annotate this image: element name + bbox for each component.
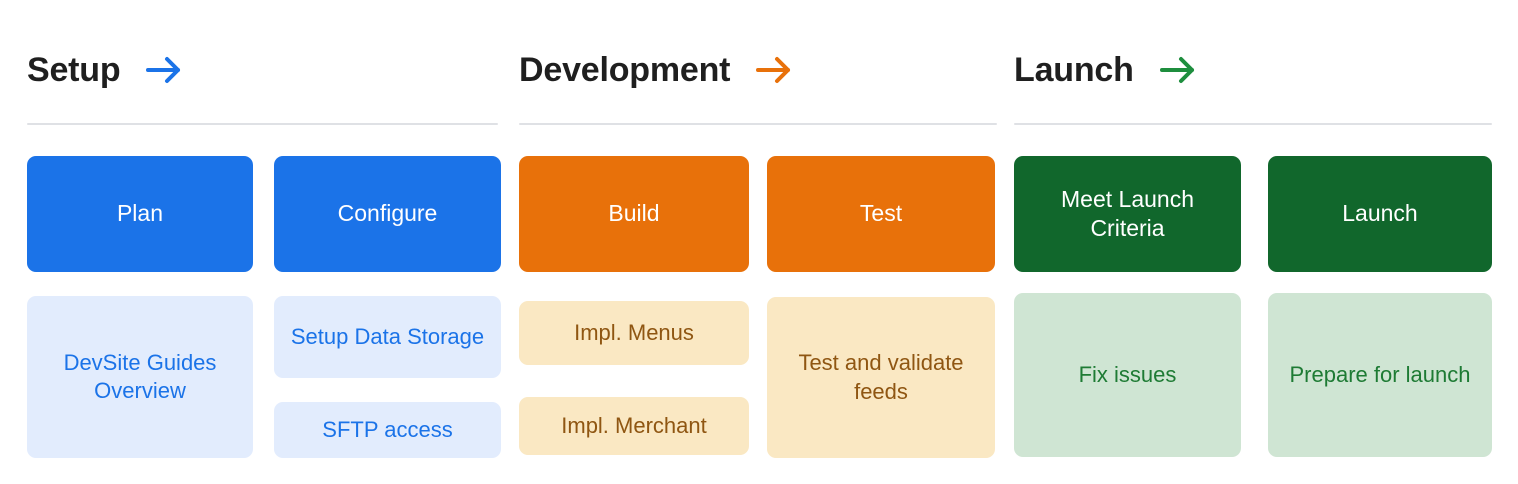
phase-column-development: Development Build Test Impl. Menus Impl.… bbox=[519, 0, 997, 484]
task-card-test-and-validate-feeds[interactable]: Test and validate feeds bbox=[767, 297, 995, 458]
arrow-right-icon bbox=[1160, 56, 1198, 84]
task-card-sftp-access[interactable]: SFTP access bbox=[274, 402, 501, 458]
task-card-devsite-guides-overview[interactable]: DevSite Guides Overview bbox=[27, 296, 253, 458]
phase-divider-setup bbox=[27, 123, 498, 125]
phase-title-setup: Setup bbox=[27, 50, 120, 90]
arrow-right-icon bbox=[146, 56, 184, 84]
step-card-plan[interactable]: Plan bbox=[27, 156, 253, 272]
phase-header-development: Development bbox=[519, 44, 794, 96]
phase-divider-launch bbox=[1014, 123, 1492, 125]
phase-header-setup: Setup bbox=[27, 44, 184, 96]
step-card-launch[interactable]: Launch bbox=[1268, 156, 1492, 272]
phase-header-launch: Launch bbox=[1014, 44, 1198, 96]
task-card-setup-data-storage[interactable]: Setup Data Storage bbox=[274, 296, 501, 378]
phase-title-launch: Launch bbox=[1014, 50, 1134, 90]
task-card-prepare-for-launch[interactable]: Prepare for launch bbox=[1268, 293, 1492, 457]
phase-column-launch: Launch Meet Launch Criteria Launch Fix i… bbox=[1014, 0, 1492, 484]
arrow-right-icon bbox=[756, 56, 794, 84]
step-card-meet-launch-criteria[interactable]: Meet Launch Criteria bbox=[1014, 156, 1241, 272]
task-card-impl-menus[interactable]: Impl. Menus bbox=[519, 301, 749, 365]
step-card-build[interactable]: Build bbox=[519, 156, 749, 272]
task-card-fix-issues[interactable]: Fix issues bbox=[1014, 293, 1241, 457]
step-card-test[interactable]: Test bbox=[767, 156, 995, 272]
task-card-impl-merchant[interactable]: Impl. Merchant bbox=[519, 397, 749, 455]
phase-title-development: Development bbox=[519, 50, 730, 90]
roadmap-board: Setup Plan Configure DevSite Guides Over… bbox=[0, 0, 1518, 484]
phase-column-setup: Setup Plan Configure DevSite Guides Over… bbox=[27, 0, 501, 484]
phase-divider-development bbox=[519, 123, 997, 125]
step-card-configure[interactable]: Configure bbox=[274, 156, 501, 272]
